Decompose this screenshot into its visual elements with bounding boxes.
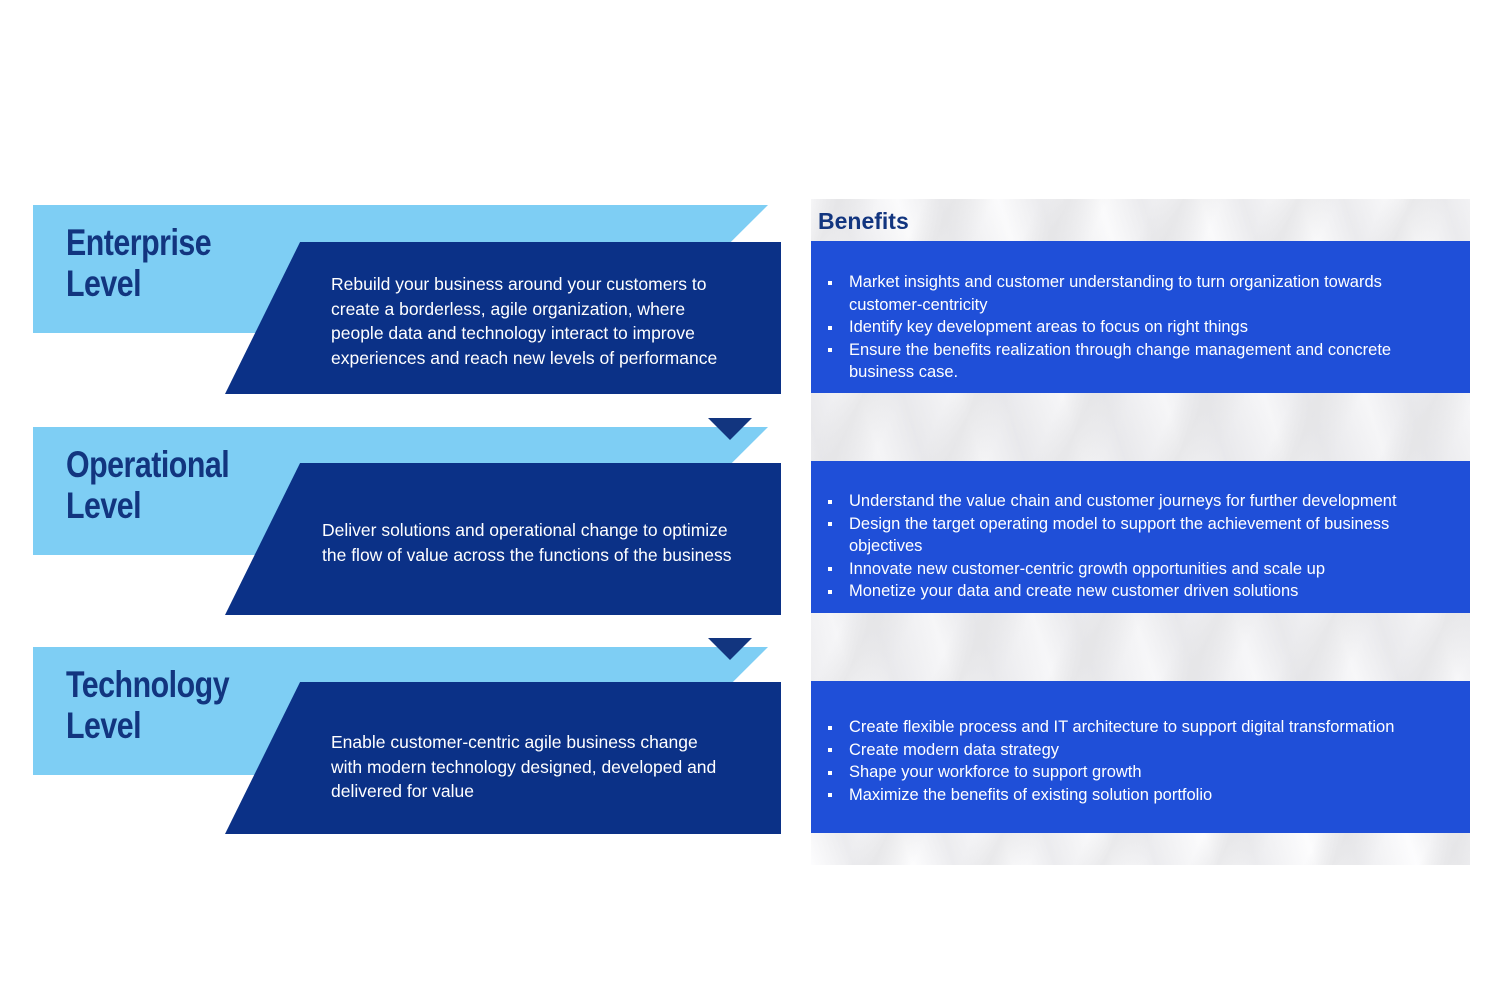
slide-canvas: Benefits Enterprise Level Rebuild your b… xyxy=(0,0,1500,1000)
list-item: Shape your workforce to support growth xyxy=(822,761,1447,784)
list-item: Innovate new customer-centric growth opp… xyxy=(822,558,1447,581)
list-item: Market insights and customer understandi… xyxy=(822,271,1447,316)
benefits-list-enterprise: Market insights and customer understandi… xyxy=(822,271,1447,384)
list-item: Design the target operating model to sup… xyxy=(822,513,1447,558)
benefits-list-operational: Understand the value chain and customer … xyxy=(822,490,1447,603)
level-description-operational: Deliver solutions and operational change… xyxy=(322,518,774,567)
level-title-operational: Operational Level xyxy=(66,444,328,526)
level-description-enterprise: Rebuild your business around your custom… xyxy=(331,272,761,370)
benefits-heading: Benefits xyxy=(818,208,909,235)
list-item: Ensure the benefits realization through … xyxy=(822,339,1447,384)
benefits-list-technology: Create flexible process and IT architect… xyxy=(822,716,1447,806)
arrow-down-icon-1 xyxy=(708,418,752,440)
list-item: Understand the value chain and customer … xyxy=(822,490,1447,513)
list-item: Monetize your data and create new custom… xyxy=(822,580,1447,603)
list-item: Create flexible process and IT architect… xyxy=(822,716,1447,739)
level-description-technology: Enable customer-centric agile business c… xyxy=(331,730,751,804)
level-title-enterprise: Enterprise Level xyxy=(66,222,328,304)
arrow-down-icon-2 xyxy=(708,638,752,660)
list-item: Create modern data strategy xyxy=(822,739,1447,762)
list-item: Maximize the benefits of existing soluti… xyxy=(822,784,1447,807)
level-title-technology: Technology Level xyxy=(66,664,328,746)
list-item: Identify key development areas to focus … xyxy=(822,316,1447,339)
